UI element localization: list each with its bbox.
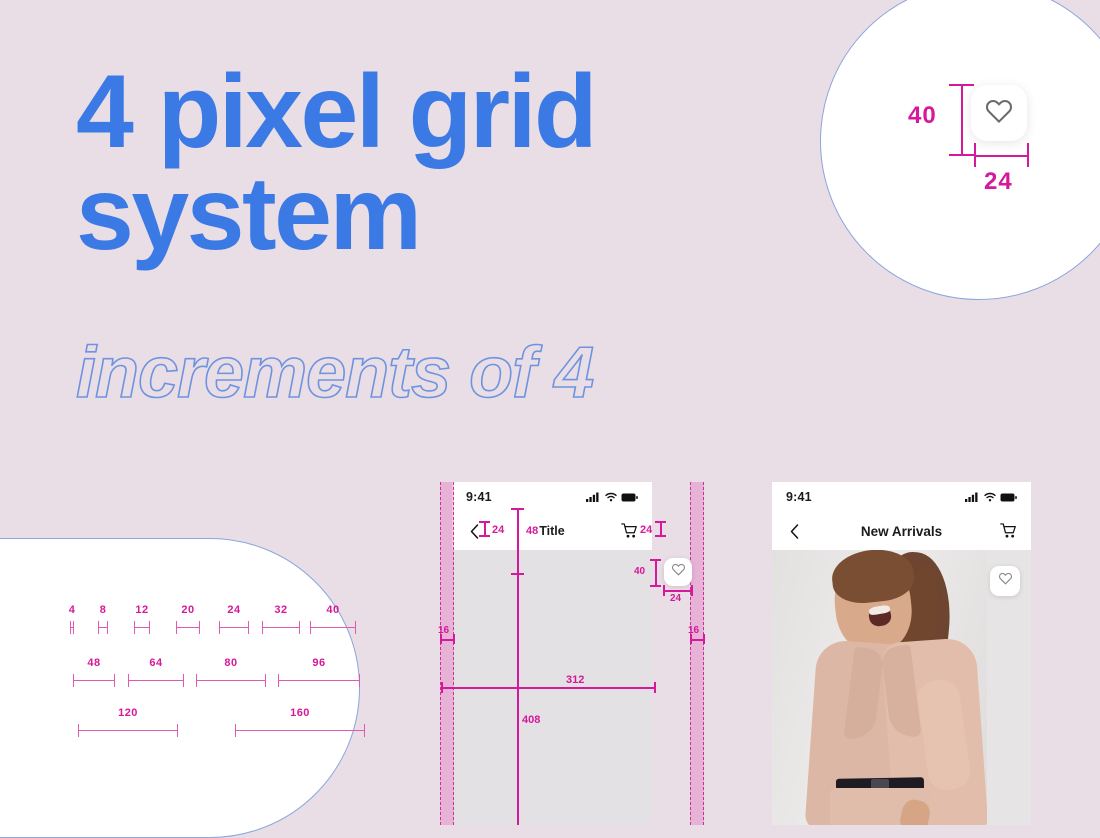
spacing-scale-cap-left xyxy=(219,621,220,634)
spacing-scale-item: 160 xyxy=(235,723,365,739)
annot-margin-left-line xyxy=(440,639,454,641)
measure-cap-left xyxy=(974,143,976,167)
headline-line-1: 4 pixel grid xyxy=(76,54,595,170)
annot-cap xyxy=(655,535,666,537)
wifi-icon xyxy=(984,492,996,502)
measure-label-width: 24 xyxy=(984,168,1013,196)
annot-cart-spacing: 24 xyxy=(640,524,652,536)
spacing-scale-cap-right xyxy=(355,621,356,634)
spacing-scale-label: 20 xyxy=(181,604,194,616)
annot-back-spacing-line xyxy=(484,521,486,536)
nav-bar: Title xyxy=(452,512,652,550)
status-bar: 9:41 xyxy=(772,482,1031,512)
chevron-left-icon[interactable] xyxy=(464,521,484,541)
wifi-icon xyxy=(605,492,617,502)
spacing-scale-cap-left xyxy=(196,674,197,687)
spacing-scale-bar xyxy=(219,627,249,628)
subtitle-outlined: increments of 4 xyxy=(76,332,593,414)
spacing-scale-cap-right xyxy=(149,621,150,634)
annot-cap xyxy=(453,634,455,644)
heart-icon xyxy=(671,562,686,582)
favorite-button[interactable] xyxy=(990,566,1020,596)
spacing-scale-cap-left xyxy=(98,621,99,634)
spacing-scale-cap-right xyxy=(265,674,266,687)
spacing-scale-label: 24 xyxy=(227,604,240,616)
annot-cap xyxy=(479,521,490,523)
annot-heart-width: 24 xyxy=(670,593,681,604)
annot-content-height: 408 xyxy=(522,714,540,726)
margin-guide-right xyxy=(690,482,704,825)
nav-title: Title xyxy=(539,524,564,538)
page-title: 4 pixel grid system xyxy=(76,62,736,266)
spacing-scale-label: 4 xyxy=(69,604,76,616)
spacing-scale-cap-left xyxy=(128,674,129,687)
spacing-scale-label: 80 xyxy=(224,657,237,669)
spacing-scale-label: 120 xyxy=(118,707,138,719)
product-hero-area xyxy=(772,550,1031,825)
signal-icon xyxy=(586,492,601,502)
spacing-scale-bar xyxy=(78,730,178,731)
favorite-button-wireframe[interactable] xyxy=(664,558,692,586)
spacing-scale-cap-left xyxy=(176,621,177,634)
measure-cap-right xyxy=(1027,143,1029,167)
annot-cap xyxy=(663,585,665,596)
measure-line-horizontal-24 xyxy=(974,155,1028,157)
spacing-scale-label: 12 xyxy=(135,604,148,616)
measure-cap-bottom xyxy=(949,154,974,156)
spacing-scale-item: 80 xyxy=(196,673,266,689)
annot-cap xyxy=(511,508,524,510)
measure-cap-top xyxy=(949,84,974,86)
annot-cap xyxy=(479,535,490,537)
spacing-scale-label: 40 xyxy=(326,604,339,616)
spacing-scale-item: 120 xyxy=(78,723,178,739)
spacing-scale-cap-right xyxy=(359,674,360,687)
spacing-scale-item: 40 xyxy=(310,620,356,636)
status-icons xyxy=(965,492,1017,502)
heart-icon xyxy=(998,571,1013,591)
status-time: 9:41 xyxy=(786,490,812,504)
spacing-scale-cap-left xyxy=(235,724,236,737)
spacing-scale-cap-left xyxy=(262,621,263,634)
spacing-scale-item: 8 xyxy=(98,620,108,636)
annot-left-offset-line xyxy=(517,508,519,574)
annot-cap xyxy=(650,585,661,587)
annot-cap xyxy=(650,559,661,561)
battery-icon xyxy=(1000,493,1017,502)
spacing-scale-cap-left xyxy=(78,724,79,737)
annot-margin-right-line xyxy=(690,639,704,641)
spacing-scale-bar xyxy=(262,627,300,628)
spacing-scale-cap-right xyxy=(183,674,184,687)
spacing-scale-bar xyxy=(235,730,365,731)
status-icons xyxy=(586,492,638,502)
spacing-scale-cap-right xyxy=(364,724,365,737)
spacing-scale-item: 96 xyxy=(278,673,360,689)
nav-bar: New Arrivals xyxy=(772,512,1031,550)
spacing-scale-item: 48 xyxy=(73,673,115,689)
status-bar: 9:41 xyxy=(452,482,652,512)
annot-heart-top-line xyxy=(655,559,657,586)
annot-cap xyxy=(441,682,443,693)
circle-callout-card xyxy=(820,0,1100,300)
margin-guide-left xyxy=(440,482,454,825)
spacing-scale-bar xyxy=(310,627,356,628)
design-system-poster: 4 pixel grid system increments of 4 40 2… xyxy=(0,0,1100,825)
spacing-scale-item: 12 xyxy=(134,620,150,636)
spacing-scale-cap-right xyxy=(199,621,200,634)
shopping-cart-icon[interactable] xyxy=(999,521,1019,541)
spacing-scale-cap-left xyxy=(310,621,311,634)
annot-cap xyxy=(440,634,442,644)
battery-icon xyxy=(621,493,638,502)
annot-content-width-line xyxy=(441,687,655,689)
woman-in-blush-blazer-photo xyxy=(772,550,987,825)
spacing-scale-cap-right xyxy=(107,621,108,634)
spacing-scale-cap-right xyxy=(299,621,300,634)
favorite-button-large[interactable] xyxy=(971,85,1027,141)
phone-mockup-final: 9:41 xyxy=(772,482,1031,825)
spacing-scale-label: 48 xyxy=(87,657,100,669)
annot-heart-top: 40 xyxy=(634,566,645,577)
annot-cap xyxy=(655,521,666,523)
spacing-scale-bar xyxy=(278,680,360,681)
spacing-scale-item: 4 xyxy=(70,620,74,636)
spacing-scale-item: 32 xyxy=(262,620,300,636)
spacing-scale-item: 64 xyxy=(128,673,184,689)
annot-cap xyxy=(691,585,693,596)
spacing-scale-bar xyxy=(176,627,200,628)
spacing-scale-cap-right xyxy=(114,674,115,687)
phone-mockup-wireframe: 9:41 xyxy=(452,482,652,825)
spacing-scale-item: 24 xyxy=(219,620,249,636)
spacing-scale-label: 64 xyxy=(149,657,162,669)
shopping-cart-icon[interactable] xyxy=(620,521,640,541)
spacing-scale-item: 20 xyxy=(176,620,200,636)
spacing-scale-cap-left xyxy=(134,621,135,634)
spacing-scale-bar xyxy=(73,680,115,681)
spacing-scale-label: 96 xyxy=(312,657,325,669)
headline-line-2: system xyxy=(76,164,736,266)
spacing-scale-cap-left xyxy=(70,621,71,634)
spacing-scale-cap-right xyxy=(177,724,178,737)
annot-left-offset: 48 xyxy=(526,525,538,537)
annot-content-height-line xyxy=(517,574,519,825)
spacing-scale-cap-right xyxy=(73,621,74,634)
annot-content-width: 312 xyxy=(566,674,584,686)
spacing-scale-bar xyxy=(134,627,150,628)
spacing-scale-cap-right xyxy=(248,621,249,634)
signal-icon xyxy=(965,492,980,502)
heart-icon xyxy=(984,96,1014,131)
spacing-scale-bar xyxy=(196,680,266,681)
spacing-scale-label: 8 xyxy=(100,604,107,616)
annot-heart-width-line xyxy=(663,590,692,592)
annot-back-spacing: 24 xyxy=(492,524,504,536)
measure-line-vertical-40 xyxy=(961,84,963,156)
spacing-scale-label: 160 xyxy=(290,707,310,719)
spacing-scale-label: 32 xyxy=(274,604,287,616)
annot-cap xyxy=(703,634,705,644)
measure-label-height: 40 xyxy=(908,102,937,130)
chevron-left-icon[interactable] xyxy=(784,521,804,541)
annot-cart-spacing-line xyxy=(660,521,662,536)
annot-cap xyxy=(690,634,692,644)
annot-cap xyxy=(654,682,656,693)
spacing-scale-cap-left xyxy=(278,674,279,687)
spacing-scale-cap-left xyxy=(73,674,74,687)
status-time: 9:41 xyxy=(466,490,492,504)
spacing-scale-bar xyxy=(128,680,184,681)
nav-title: New Arrivals xyxy=(861,524,942,539)
